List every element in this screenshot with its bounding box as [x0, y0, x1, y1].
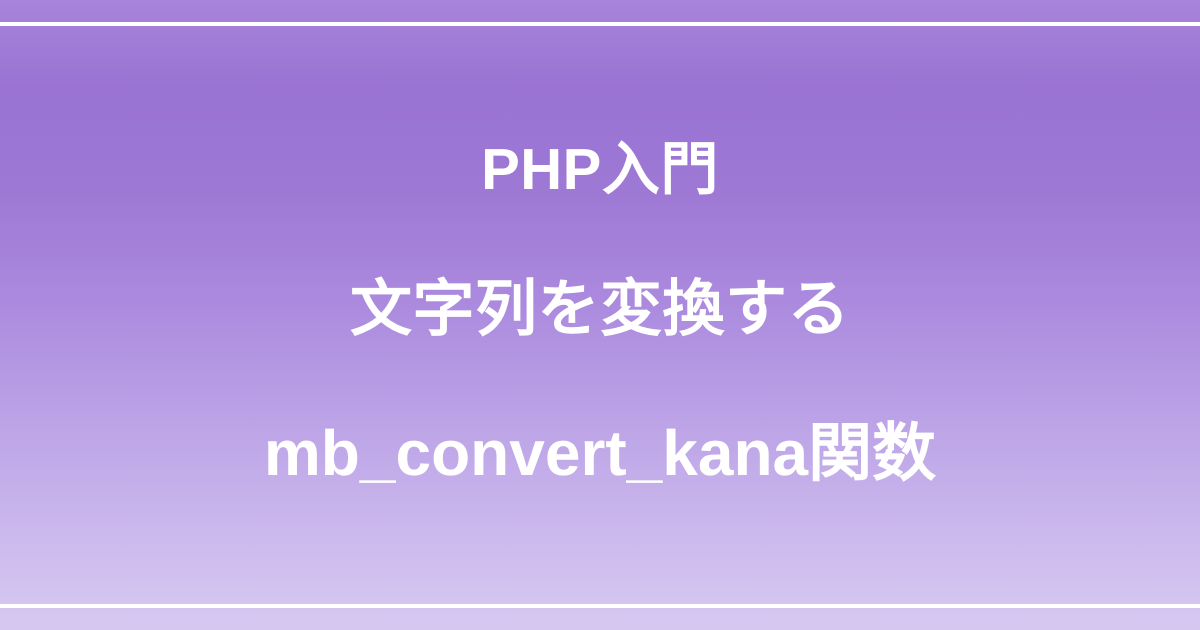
title-line-primary: PHP入門 — [481, 138, 719, 202]
top-divider-rule — [0, 22, 1200, 26]
title-line-function-name: mb_convert_kana関数 — [264, 418, 936, 488]
bottom-divider-rule — [0, 604, 1200, 608]
banner-card: PHP入門 文字列を変換する mb_convert_kana関数 — [0, 0, 1200, 630]
title-block: PHP入門 文字列を変換する mb_convert_kana関数 — [0, 138, 1200, 488]
title-line-secondary: 文字列を変換する — [350, 276, 850, 344]
